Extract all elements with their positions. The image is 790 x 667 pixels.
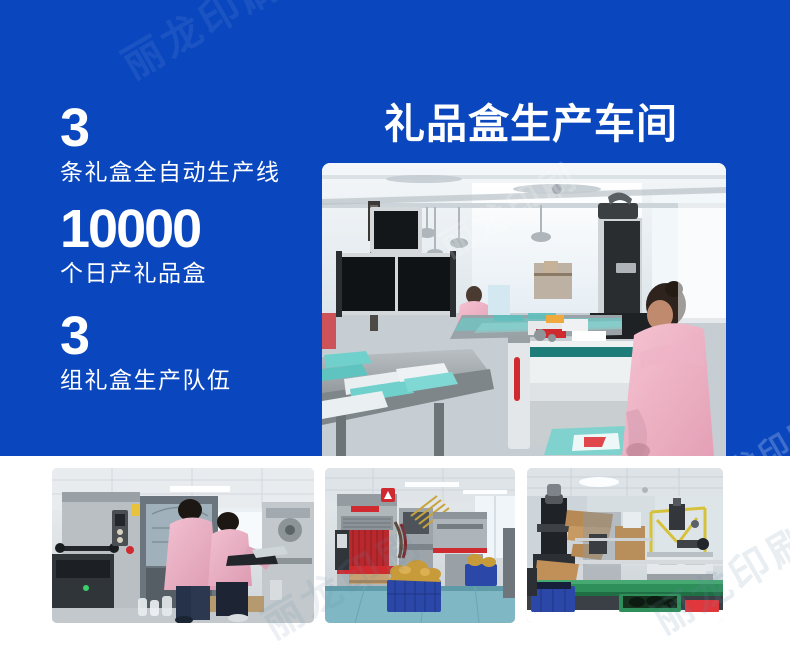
stat-block: 3 条礼盒全自动生产线 <box>60 100 322 187</box>
stat-number: 10000 <box>60 201 322 257</box>
stat-block: 3 组礼盒生产队伍 <box>60 308 322 395</box>
box-assembly-line-photo <box>527 468 723 623</box>
stat-number: 3 <box>60 100 322 156</box>
page-title: 礼品盒生产车间 <box>384 99 678 149</box>
stats-column: 3 条礼盒全自动生产线 10000 个日产礼品盒 3 组礼盒生产队伍 <box>60 100 322 404</box>
page-root: 丽龙印刷 3 条礼盒全自动生产线 10000 个日产礼品盒 3 组礼盒生产队伍 … <box>0 0 790 667</box>
stat-label: 条礼盒全自动生产线 <box>60 157 322 187</box>
stat-block: 10000 个日产礼品盒 <box>60 201 322 288</box>
workshop-photo-art <box>322 163 726 456</box>
offset-press-photo-art <box>52 468 314 623</box>
stat-number: 3 <box>60 308 322 364</box>
thumbnail-strip <box>0 468 790 628</box>
stat-label: 个日产礼品盒 <box>60 258 322 288</box>
stat-label: 组礼盒生产队伍 <box>60 365 322 395</box>
assembly-line-photo-art <box>527 468 723 623</box>
die-cutter-photo-art <box>325 468 515 623</box>
gift-box-production-workshop-photo <box>322 163 726 456</box>
die-cutting-machine-photo <box>325 468 515 623</box>
offset-printing-machine-photo <box>52 468 314 623</box>
